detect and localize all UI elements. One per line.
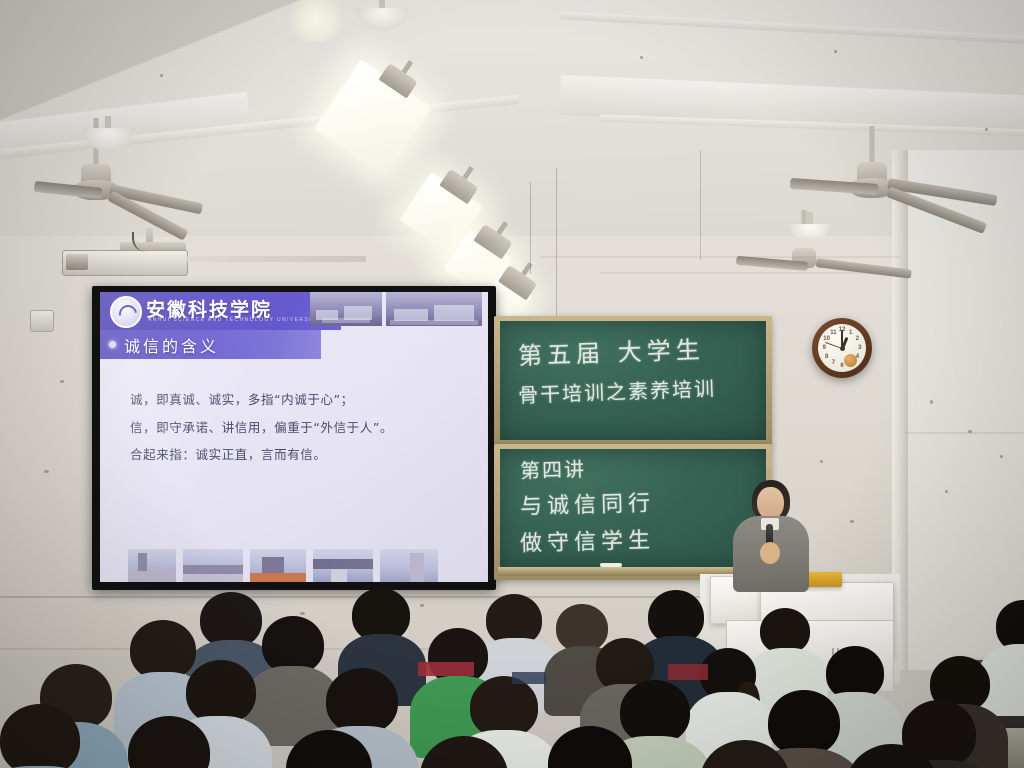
clock-face: 12 1 2 3 4 5 6 7 8 9 10 11	[818, 324, 866, 372]
wall-seam-1	[0, 596, 700, 598]
presenter	[732, 480, 812, 590]
wall-speck	[968, 430, 972, 433]
presenter-hands	[760, 542, 780, 564]
university-name-en: ANHUI SCIENCE AND TECHNOLOGY UNIVERSITY	[148, 317, 321, 323]
ceiling-speck	[160, 74, 163, 77]
lecture-hall-photo: 安徽科技学院 ANHUI SCIENCE AND TECHNOLOGY UNIV…	[0, 0, 1024, 768]
ceiling-fan-right-near	[740, 210, 930, 290]
blackboard-upper: 第五届 大学生 骨干培训之素养培训	[500, 321, 766, 440]
clock-numeral: 9	[823, 345, 826, 351]
slide-title-bar: 诚信的含义	[100, 330, 321, 359]
wall-speck	[420, 604, 424, 607]
clock-numeral: 3	[858, 345, 861, 351]
blackboard-lower-line-2: 与诚信同行	[520, 485, 656, 521]
footer-photo-3	[250, 549, 306, 582]
wall-speck	[300, 612, 305, 615]
seat-back	[418, 662, 474, 676]
footer-photo-5	[380, 549, 438, 582]
clock-numeral: 7	[832, 360, 835, 366]
ceiling-conduit	[540, 256, 900, 258]
wall-speck	[850, 520, 854, 523]
ceiling-speck	[640, 56, 643, 59]
blackboard-upper-line-1: 第五届 大学生	[517, 330, 705, 371]
ceiling-fan-left	[40, 118, 210, 204]
header-photo-1	[310, 292, 382, 326]
footer-photo-2	[183, 549, 243, 582]
wall-speaker	[30, 310, 54, 332]
blackboard-lower-line-3: 做守信学生	[520, 522, 656, 558]
university-logo-icon	[110, 296, 142, 328]
presentation-slide: 安徽科技学院 ANHUI SCIENCE AND TECHNOLOGY UNIV…	[100, 292, 488, 582]
ceiling-wire	[556, 168, 557, 318]
fan-blade	[815, 258, 911, 279]
wall-speck	[945, 490, 948, 493]
header-photo-2	[386, 292, 482, 326]
clock-center-pin	[840, 346, 845, 351]
clock-numeral: 2	[856, 336, 859, 342]
footer-photo-4	[313, 549, 373, 582]
clock-numeral: 8	[825, 354, 828, 360]
slide-body-text: 诚，即真诚、诚实，多指“内诚于心”； 信，即守承诺、讲信用，偏重于“外信于人”。…	[130, 392, 460, 475]
clock-decoration	[844, 354, 857, 367]
blackboard-lower: 第四讲 与诚信同行 做守信学生	[500, 449, 766, 567]
wall-seam-3	[905, 432, 1024, 434]
wall-speck	[930, 400, 933, 404]
wall-speck	[44, 470, 49, 473]
ceiling-conduit	[600, 272, 900, 274]
slide-header-band: 安徽科技学院 ANHUI SCIENCE AND TECHNOLOGY UNIV…	[100, 292, 341, 330]
slide-title: 诚信的含义	[124, 333, 219, 357]
ceiling-speck	[834, 50, 837, 53]
wall-speck	[820, 460, 823, 463]
clock-numeral: 6	[840, 363, 843, 369]
slide-footer-photos	[100, 540, 488, 582]
clock-numeral: 11	[830, 330, 836, 336]
slide-line-2: 信，即守承诺、讲信用，偏重于“外信于人”。	[130, 420, 460, 436]
bullet-dot-icon	[109, 341, 116, 348]
wall-speck	[1000, 455, 1003, 458]
wall-clock: 12 1 2 3 4 5 6 7 8 9 10 11	[812, 318, 872, 378]
slide-line-1: 诚，即真诚、诚实，多指“内诚于心”；	[130, 392, 460, 408]
seat-back	[668, 664, 708, 680]
seat-back	[512, 672, 546, 684]
blackboard-lower-line-1: 第四讲	[520, 453, 587, 484]
projection-screen: 安徽科技学院 ANHUI SCIENCE AND TECHNOLOGY UNIV…	[100, 292, 488, 582]
projector-lens	[66, 254, 88, 270]
ceiling-wire	[530, 182, 531, 274]
footer-photo-1	[128, 549, 176, 582]
chalk-piece	[600, 563, 622, 567]
blackboard-upper-line-2: 骨干培训之素养培训	[518, 373, 717, 409]
wall-speck	[60, 380, 64, 383]
slide-line-3: 合起来指：诚实正直，言而有信。	[130, 447, 460, 463]
ceiling-wire	[700, 150, 701, 260]
projector-shelf	[186, 256, 366, 262]
clock-numeral: 1	[849, 330, 852, 336]
ceiling-fan-right-far	[800, 126, 1010, 216]
